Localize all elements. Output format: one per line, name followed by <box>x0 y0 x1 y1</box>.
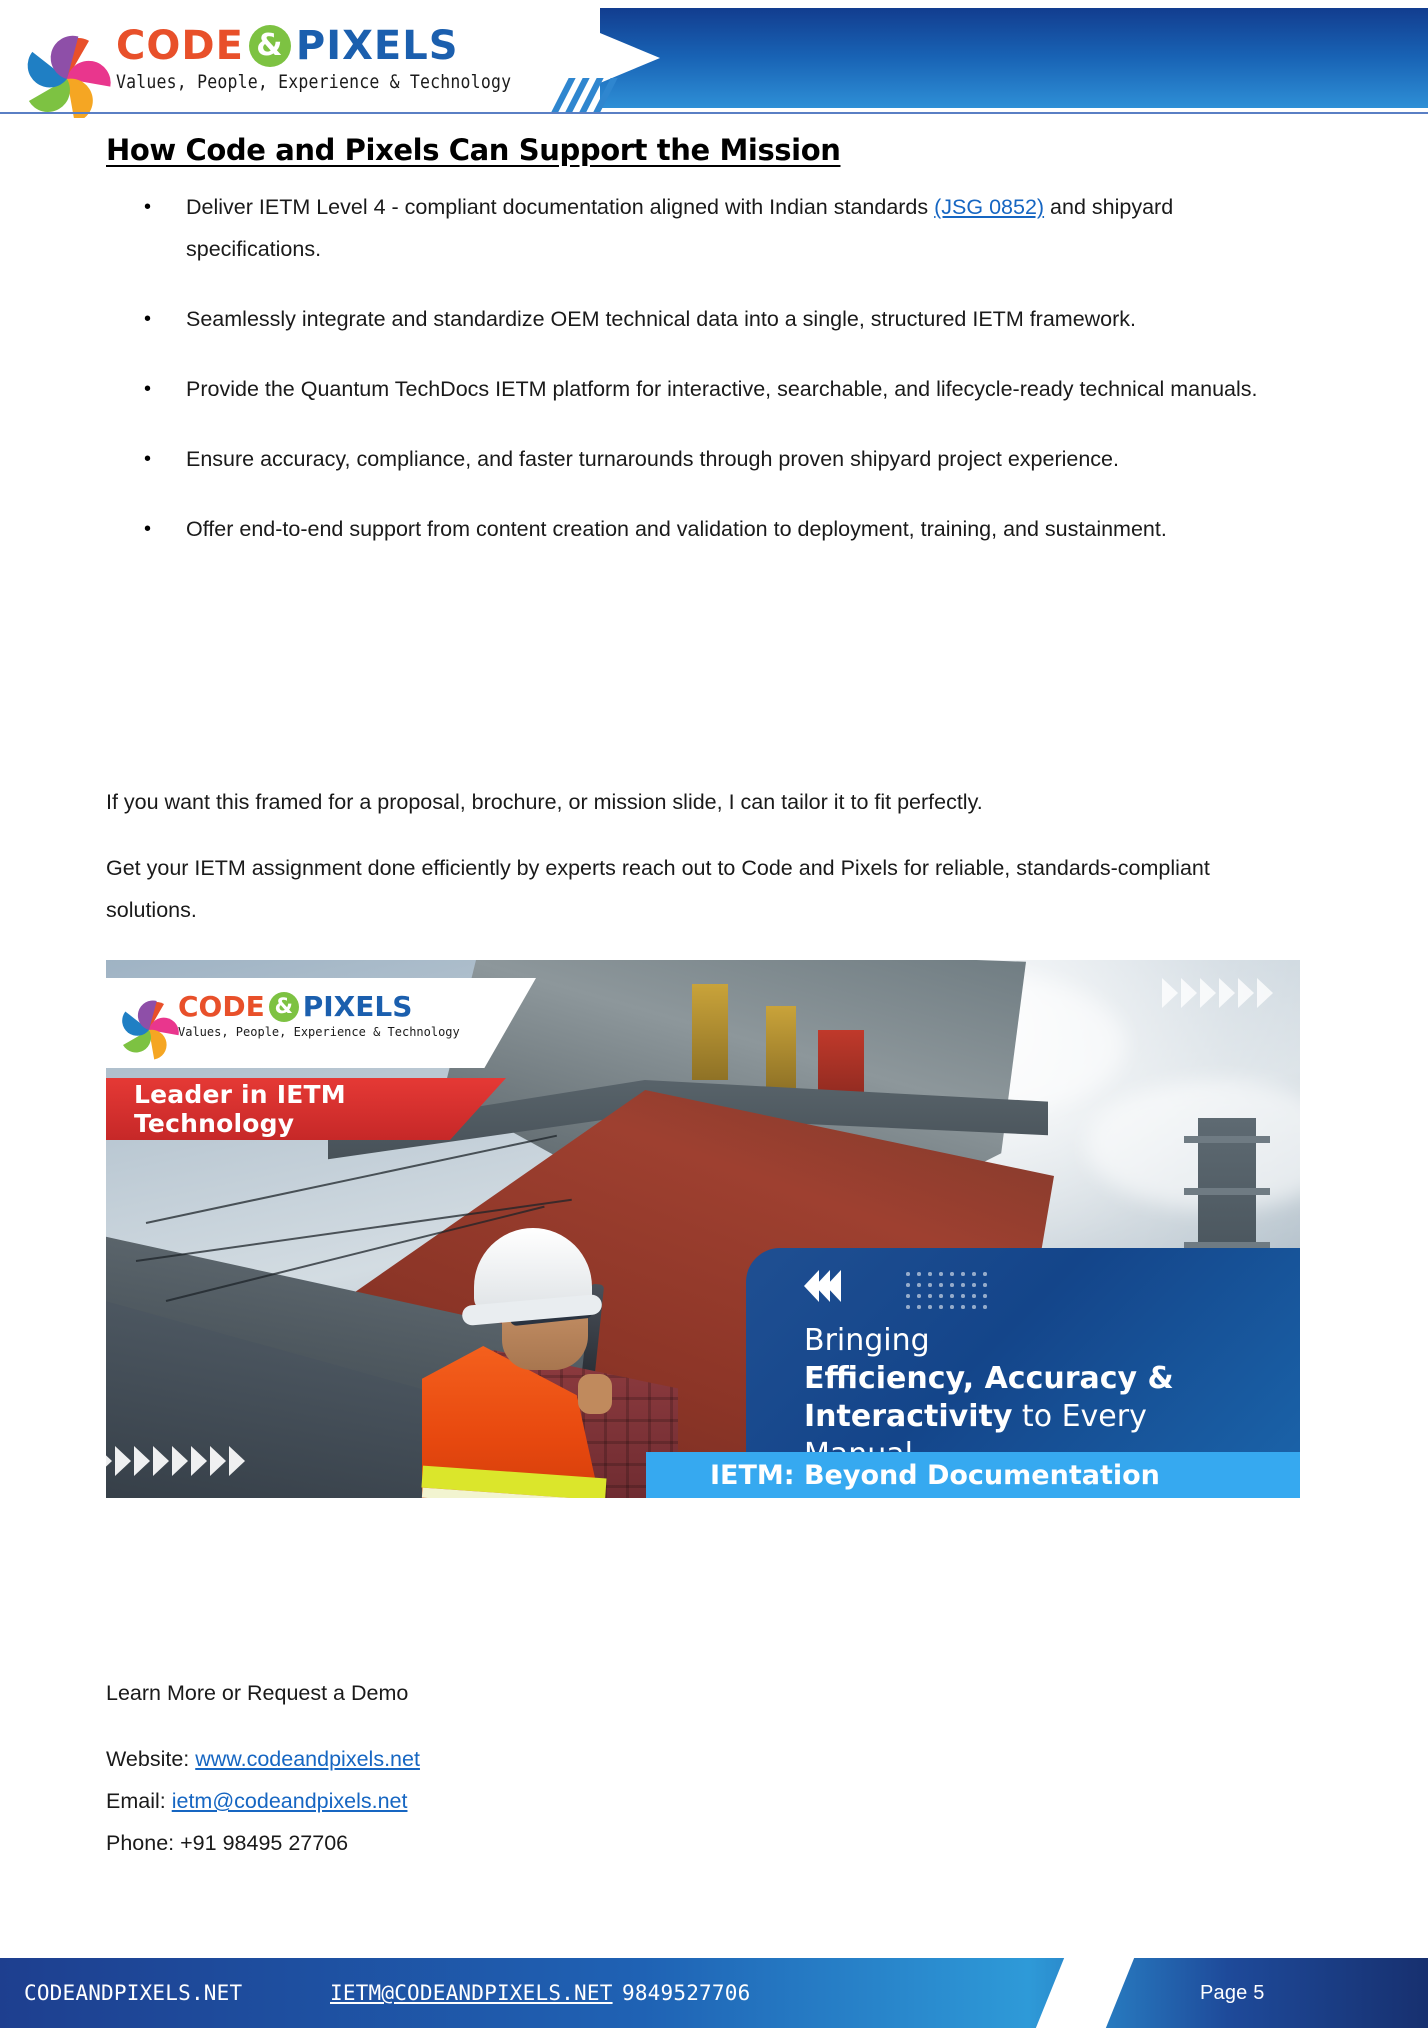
header-stripes-decoration <box>560 78 638 112</box>
banner-logo-tagline: Values, People, Experience & Technology <box>178 1025 460 1039</box>
deck-crane-shape <box>766 1006 796 1090</box>
headline-bold-1: Efficiency, Accuracy & <box>804 1361 1174 1396</box>
footer-email-link[interactable]: IETM@CODEANDPIXELS.NET <box>330 1981 613 2005</box>
jsg-standard-link[interactable]: (JSG 0852) <box>934 195 1044 219</box>
page-title: How Code and Pixels Can Support the Miss… <box>106 133 840 167</box>
list-item: Ensure accuracy, compliance, and faster … <box>106 438 1296 480</box>
header-divider-rule <box>0 112 1428 114</box>
phone-number: +91 98495 27706 <box>180 1831 348 1855</box>
footer-website: CODEANDPIXELS.NET <box>24 1958 242 2028</box>
header-blue-band <box>540 8 1428 108</box>
logo-ampersand: & <box>249 25 291 67</box>
bullet-text: Provide the Quantum TechDocs IETM platfo… <box>186 377 1258 401</box>
pinwheel-logo-icon <box>24 14 110 100</box>
contact-phone-row: Phone: +91 98495 27706 <box>106 1822 420 1864</box>
pinwheel-logo-icon <box>120 986 178 1044</box>
email-link[interactable]: ietm@codeandpixels.net <box>172 1789 408 1813</box>
deck-equipment-shape <box>818 1030 864 1100</box>
headline-line-1: Bringing <box>804 1323 930 1358</box>
logo-word-code: CODE <box>116 26 244 66</box>
chevron-arrows-top-right-icon <box>1162 978 1276 1008</box>
company-logo: CODE & PIXELS Values, People, Experience… <box>24 14 511 100</box>
banner-logo-word-pixels: PIXELS <box>303 993 413 1021</box>
banner-logo-word-code: CODE <box>178 993 265 1021</box>
chevron-left-triple-icon <box>804 1270 837 1302</box>
paragraph-tailoring: If you want this framed for a proposal, … <box>106 781 1296 823</box>
leader-ribbon-text: Leader in IETM Technology <box>134 1080 506 1138</box>
ietm-promo-banner-image: CODE & PIXELS Values, People, Experience… <box>106 960 1300 1498</box>
headline-bold-2: Interactivity <box>804 1399 1012 1434</box>
email-label: Email: <box>106 1789 172 1813</box>
footer-page-number: Page 5 <box>1200 1958 1265 2028</box>
bullet-text: Offer end-to-end support from content cr… <box>186 517 1167 541</box>
website-link[interactable]: www.codeandpixels.net <box>195 1747 420 1771</box>
dot-grid-decoration <box>906 1272 994 1316</box>
page-footer: CODEANDPIXELS.NET IETM@CODEANDPIXELS.NET… <box>0 1952 1428 2028</box>
bullet-text: Seamlessly integrate and standardize OEM… <box>186 307 1136 331</box>
list-item: Offer end-to-end support from content cr… <box>106 508 1296 550</box>
list-item: Deliver IETM Level 4 - compliant documen… <box>106 186 1296 270</box>
logo-tagline: Values, People, Experience & Technology <box>116 71 511 92</box>
page-header: CODE & PIXELS Values, People, Experience… <box>0 0 1428 118</box>
footer-email-wrap: IETM@CODEANDPIXELS.NET <box>330 1958 613 2028</box>
contact-lead: Learn More or Request a Demo <box>106 1672 420 1714</box>
logo-word-pixels: PIXELS <box>296 26 459 66</box>
chevron-arrows-bottom-left-icon <box>106 1446 248 1476</box>
banner-logo-ampersand: & <box>269 992 299 1022</box>
website-label: Website: <box>106 1747 195 1771</box>
banner-message-panel: Bringing Efficiency, Accuracy & Interact… <box>746 1248 1300 1458</box>
deck-crane-shape <box>692 984 728 1080</box>
contact-website-row: Website: www.codeandpixels.net <box>106 1738 420 1780</box>
banner-footer-text: IETM: Beyond Documentation <box>710 1460 1160 1491</box>
phone-label: Phone: <box>106 1831 180 1855</box>
banner-footer-bar: IETM: Beyond Documentation <box>646 1452 1300 1498</box>
paragraph-cta: Get your IETM assignment done efficientl… <box>106 847 1296 931</box>
contact-email-row: Email: ietm@codeandpixels.net <box>106 1780 420 1822</box>
banner-logo-wordmark: CODE & PIXELS <box>178 992 460 1022</box>
bullet-text: Ensure accuracy, compliance, and faster … <box>186 447 1119 471</box>
headline-tail: to Every <box>1012 1399 1146 1434</box>
list-item: Seamlessly integrate and standardize OEM… <box>106 298 1296 340</box>
leader-ribbon: Leader in IETM Technology <box>106 1078 506 1140</box>
logo-wordmark: CODE & PIXELS <box>116 25 511 67</box>
bullet-text-before: Deliver IETM Level 4 - compliant documen… <box>186 195 934 219</box>
footer-phone: 9849527706 <box>622 1958 750 2028</box>
support-bullet-list: Deliver IETM Level 4 - compliant documen… <box>106 186 1296 550</box>
banner-company-logo: CODE & PIXELS Values, People, Experience… <box>120 986 460 1044</box>
worker-hand <box>578 1374 612 1414</box>
list-item: Provide the Quantum TechDocs IETM platfo… <box>106 368 1296 410</box>
contact-block: Learn More or Request a Demo Website: ww… <box>106 1672 420 1864</box>
